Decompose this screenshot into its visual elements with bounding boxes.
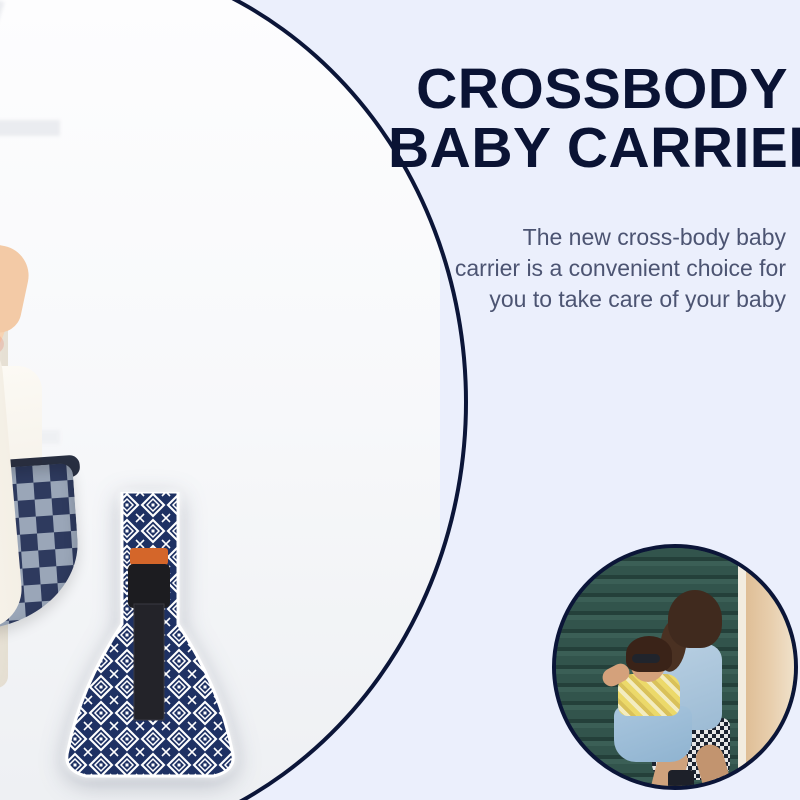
subtitle-text: The new cross-body baby carrier is a con… (454, 222, 786, 314)
title-line-1: CROSSBODY (388, 60, 788, 119)
lifestyle-inset-photo (552, 544, 798, 790)
backdrop-bar (0, 120, 60, 136)
product-strap-webbing (134, 604, 164, 720)
page-title: CROSSBODY BABY CARRIER (388, 60, 788, 177)
inset-mother-hair (668, 590, 722, 648)
inset-bag (668, 770, 694, 790)
backdrop-bar (0, 0, 5, 128)
inset-baby-sunglasses (632, 654, 660, 663)
product-poster: CROSSBODY BABY CARRIER The new cross-bod… (0, 0, 800, 800)
product-buckle (128, 564, 170, 608)
product-orange-tab (130, 548, 168, 565)
model-hand-on-baby-head (0, 237, 34, 336)
title-line-2: BABY CARRIER (388, 119, 788, 178)
product-cutout-image (62, 492, 238, 780)
inset-wall (738, 548, 794, 786)
